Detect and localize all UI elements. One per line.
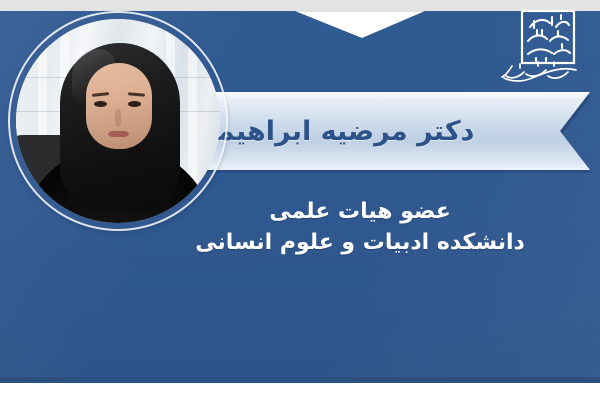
portrait-photo [16,19,220,223]
university-logo-icon [490,8,586,90]
portrait-eye [128,101,141,107]
role-text: عضو هیات علمی [185,196,535,227]
subtitle-block: عضو هیات علمی دانشکده ادبیات و علوم انسا… [185,196,535,258]
portrait-eye [94,101,107,107]
avatar [10,13,226,229]
portrait-mouth [108,131,129,137]
university-logo [490,8,586,90]
faculty-profile-card: دکتر مرضیه ابراهیمی عضو هیات علمی دانشکد… [0,0,600,400]
bottom-strip [0,383,600,400]
portrait-nose [115,109,121,127]
faculty-text: دانشکده ادبیات و علوم انسانی [185,227,535,258]
